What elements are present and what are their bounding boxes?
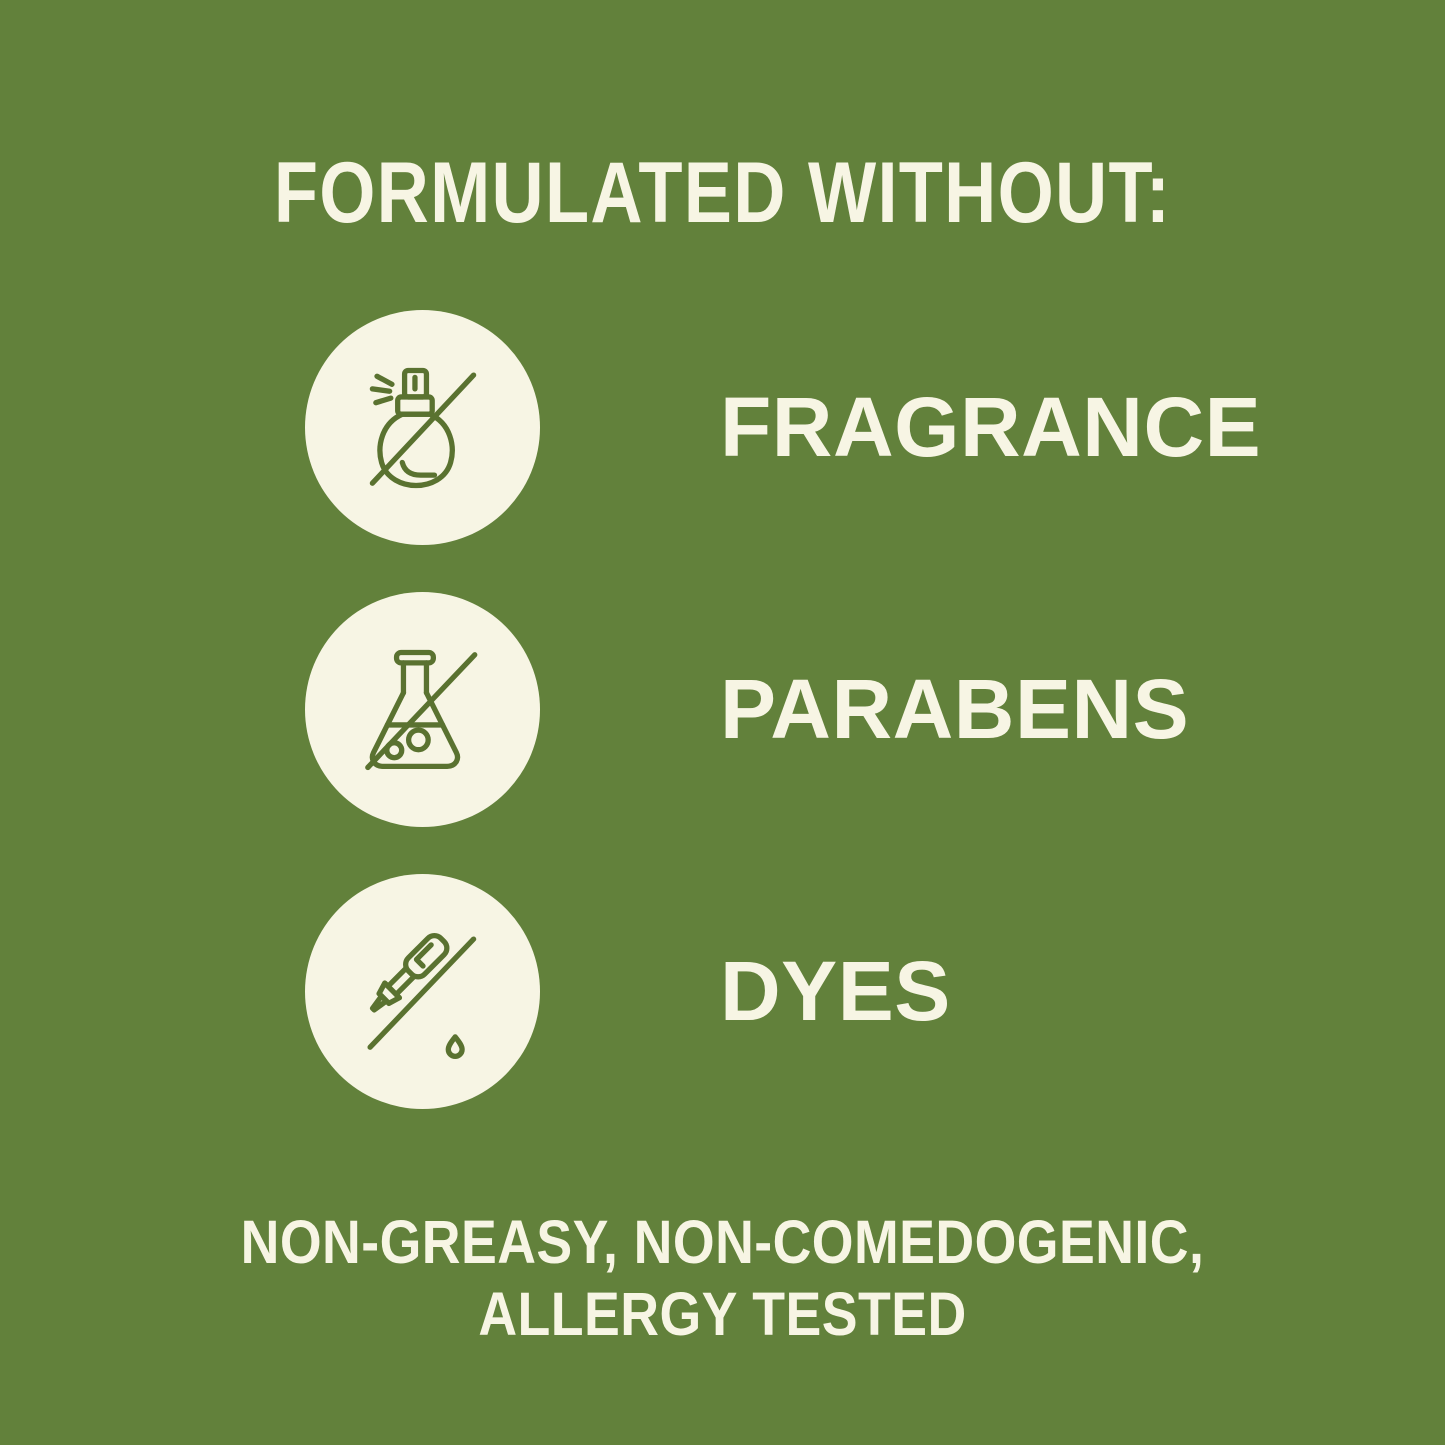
no-dyes-badge (305, 874, 540, 1109)
footer-line-1: NON-GREASY, NON-COMEDOGENIC, (87, 1207, 1359, 1279)
footer-line-2: ALLERGY TESTED (87, 1279, 1359, 1351)
no-fragrance-badge (305, 310, 540, 545)
list-item: DYES (0, 874, 1445, 1109)
claim-label-parabens: PARABENS (720, 592, 1189, 827)
formulated-without-poster: FORMULATED WITHOUT: (0, 0, 1445, 1445)
no-fragrance-spray-bottle-icon (354, 359, 492, 497)
claims-list: FRAGRANCE (0, 310, 1445, 1156)
no-parabens-flask-icon (354, 641, 492, 779)
page-title: FORMULATED WITHOUT: (116, 148, 1330, 238)
footer-claims: NON-GREASY, NON-COMEDOGENIC, ALLERGY TES… (0, 1207, 1445, 1351)
list-item: FRAGRANCE (0, 310, 1445, 545)
no-parabens-badge (305, 592, 540, 827)
no-dyes-dropper-icon (354, 923, 492, 1061)
claim-label-dyes: DYES (720, 874, 951, 1109)
claim-label-fragrance: FRAGRANCE (720, 310, 1261, 545)
list-item: PARABENS (0, 592, 1445, 827)
